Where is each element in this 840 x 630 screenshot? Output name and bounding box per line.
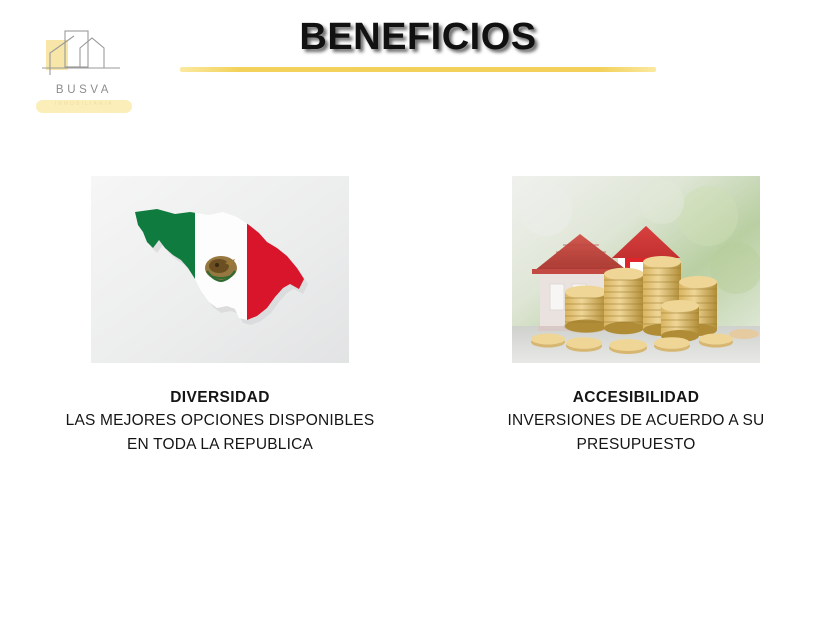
logo-wordmark: BUSVA bbox=[28, 84, 140, 96]
building-logo-icon bbox=[28, 26, 140, 84]
title-underline-rule bbox=[180, 67, 656, 72]
benefit-title-diversidad: DIVERSIDAD bbox=[22, 387, 418, 409]
benefit-column-accesibilidad: ACCESIBILIDAD INVERSIONES DE ACUERDO A S… bbox=[452, 176, 820, 457]
brand-logo[interactable]: BUSVA INMOBILIARIA bbox=[28, 26, 140, 118]
page-title: BENEFICIOS bbox=[180, 16, 656, 59]
house-and-coins-image bbox=[512, 176, 760, 363]
logo-tagline: INMOBILIARIA bbox=[36, 101, 132, 107]
benefit-body-diversidad: LAS MEJORES OPCIONES DISPONIBLES EN TODA… bbox=[22, 409, 418, 457]
benefit-title-accesibilidad: ACCESIBILIDAD bbox=[452, 387, 820, 409]
mexico-flag-map-image bbox=[91, 176, 349, 363]
caption-accesibilidad: ACCESIBILIDAD INVERSIONES DE ACUERDO A S… bbox=[452, 387, 820, 457]
benefit-column-diversidad: DIVERSIDAD LAS MEJORES OPCIONES DISPONIB… bbox=[22, 176, 418, 457]
logo-tagline-bar: INMOBILIARIA bbox=[36, 100, 132, 113]
caption-diversidad: DIVERSIDAD LAS MEJORES OPCIONES DISPONIB… bbox=[22, 387, 418, 457]
slide-beneficios: BUSVA INMOBILIARIA BENEFICIOS bbox=[0, 0, 840, 630]
benefit-body-accesibilidad: INVERSIONES DE ACUERDO A SU PRESUPUESTO bbox=[452, 409, 820, 457]
